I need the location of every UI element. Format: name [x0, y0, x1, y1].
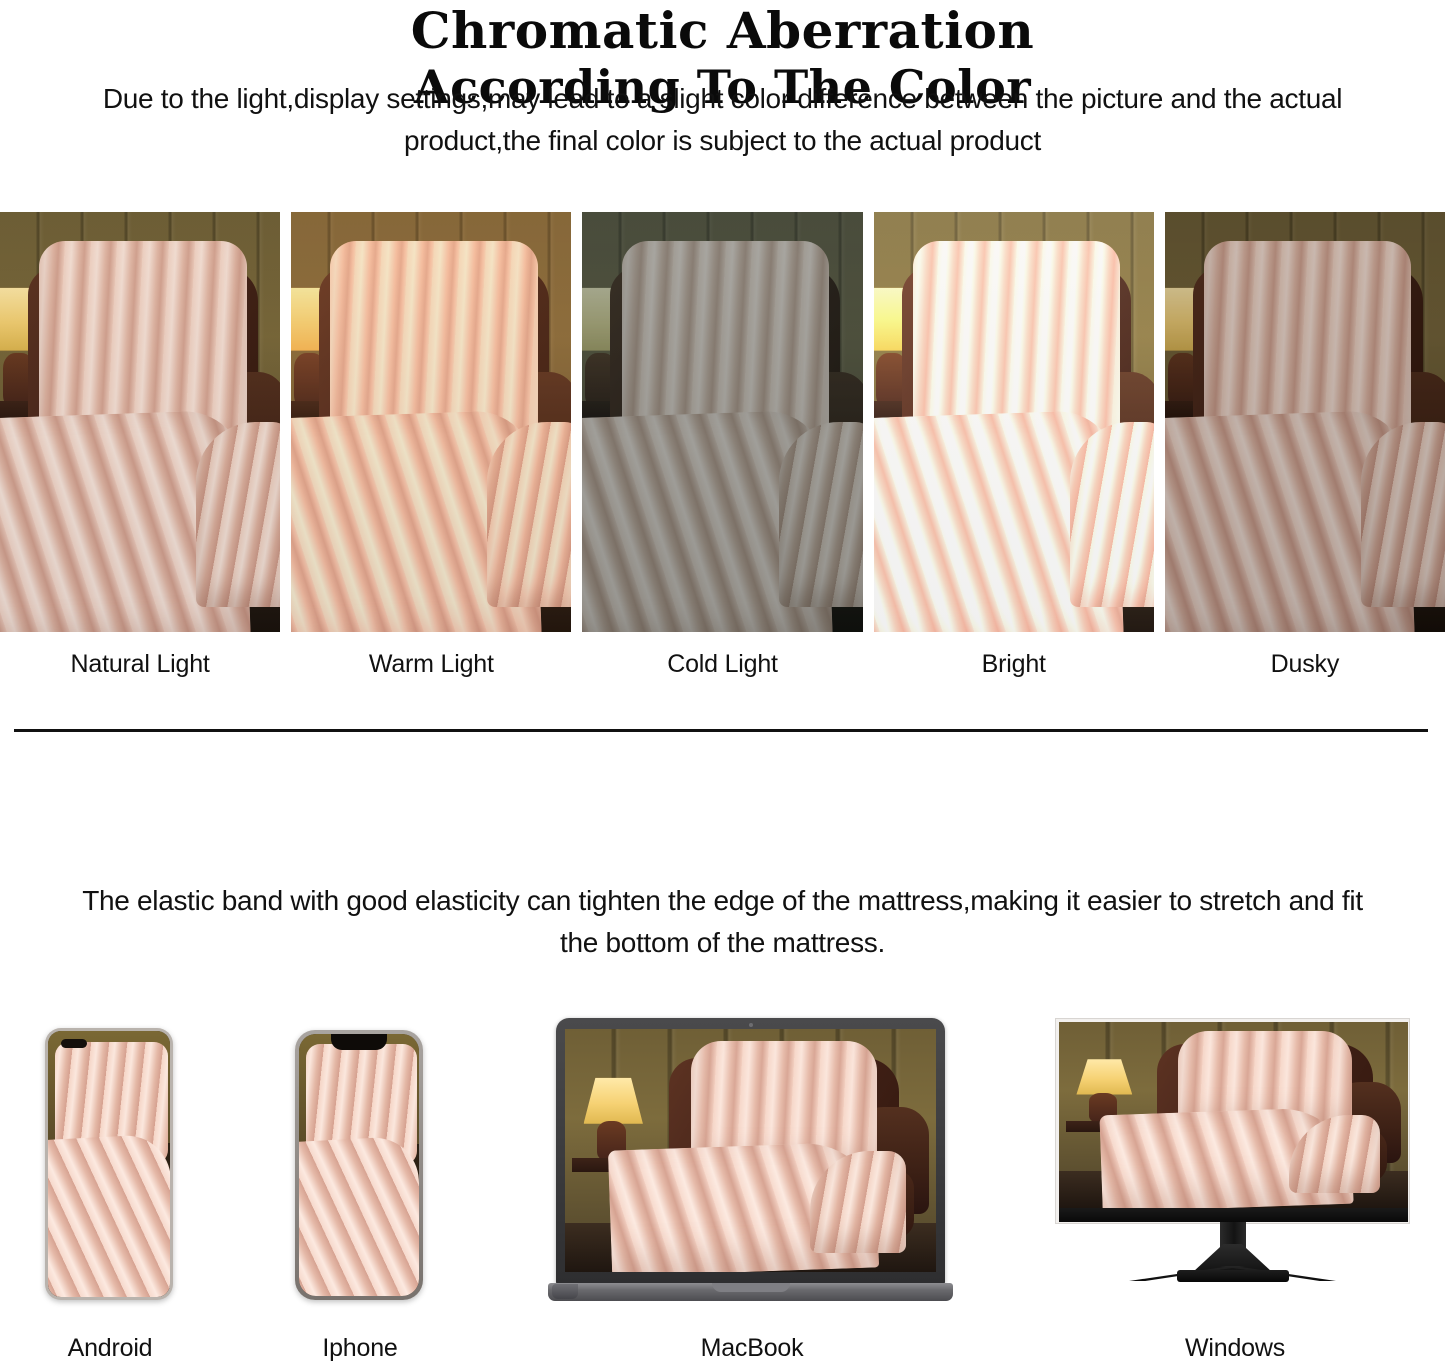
blanket-closeup-image [48, 1031, 170, 1297]
blanket-scene-image [582, 212, 862, 632]
blanket-scene-image [1165, 212, 1445, 632]
blanket-scene-image [291, 212, 571, 632]
android-phone-body [45, 1028, 173, 1300]
blanket-lower-ribs [48, 1134, 170, 1297]
light-panel-label-warm-light: Warm Light [291, 650, 571, 679]
blanket-draped-edge [779, 422, 863, 607]
device-mockup-android [45, 1028, 173, 1300]
macbook-lid [556, 1018, 945, 1285]
section-divider [14, 729, 1428, 732]
blanket-scene-image [874, 212, 1154, 632]
blanket-scene-image [565, 1029, 936, 1272]
monitor-panel [1055, 1018, 1410, 1224]
device-label-windows: Windows [1155, 1334, 1315, 1363]
macbook-foot [552, 1284, 578, 1299]
according-to-the-color-description: The elastic band with good elasticity ca… [0, 880, 1445, 964]
blanket-closeup-image [299, 1034, 419, 1296]
device-mockup-iphone [295, 1030, 423, 1300]
light-panel-label-cold-light: Cold Light [582, 650, 862, 679]
blanket-draped-edge [1361, 422, 1445, 607]
light-panel-warm-light [291, 212, 571, 632]
light-panel-natural-light [0, 212, 280, 632]
device-label-android: Android [30, 1334, 190, 1363]
blanket-scene-image [1059, 1022, 1408, 1208]
light-panel-bright [874, 212, 1154, 632]
device-label-iphone: Iphone [280, 1334, 440, 1363]
monitor-stand-foot-center [1177, 1270, 1289, 1282]
notch-icon [331, 1034, 387, 1050]
chromatic-aberration-description: Due to the light,display settings,may le… [0, 78, 1445, 162]
device-label-macbook: MacBook [672, 1334, 832, 1363]
light-panel-label-dusky: Dusky [1165, 650, 1445, 679]
device-mockup-macbook [548, 1018, 953, 1313]
blanket-draped-edge [487, 422, 571, 607]
device-mockup-row [0, 1010, 1445, 1310]
monitor-bottom-bezel [1059, 1208, 1408, 1222]
device-mockup-windows-monitor [1055, 1018, 1410, 1318]
light-panel-dusky [1165, 212, 1445, 632]
blanket-lower-ribs [299, 1135, 419, 1296]
webcam-icon [749, 1023, 753, 1027]
android-screen [48, 1031, 170, 1297]
page-title-chromatic-aberration: Chromatic Aberration [0, 0, 1445, 60]
iphone-screen [299, 1034, 419, 1296]
blanket-draped-edge [1070, 422, 1154, 607]
light-condition-panel-strip [0, 212, 1445, 632]
macbook-lid-notch [712, 1283, 790, 1292]
light-panel-label-natural-light: Natural Light [0, 650, 280, 679]
light-panel-label-row: Natural Light Warm Light Cold Light Brig… [0, 650, 1445, 679]
camera-punch-hole-icon [61, 1039, 87, 1048]
monitor-screen [1059, 1022, 1408, 1208]
macbook-screen [565, 1029, 936, 1272]
blanket-draped-edge [196, 422, 280, 607]
light-panel-label-bright: Bright [874, 650, 1154, 679]
blanket-scene-image [0, 212, 280, 632]
light-panel-cold-light [582, 212, 862, 632]
device-label-row: Android Iphone MacBook Windows [0, 1334, 1445, 1372]
iphone-body [295, 1030, 423, 1300]
